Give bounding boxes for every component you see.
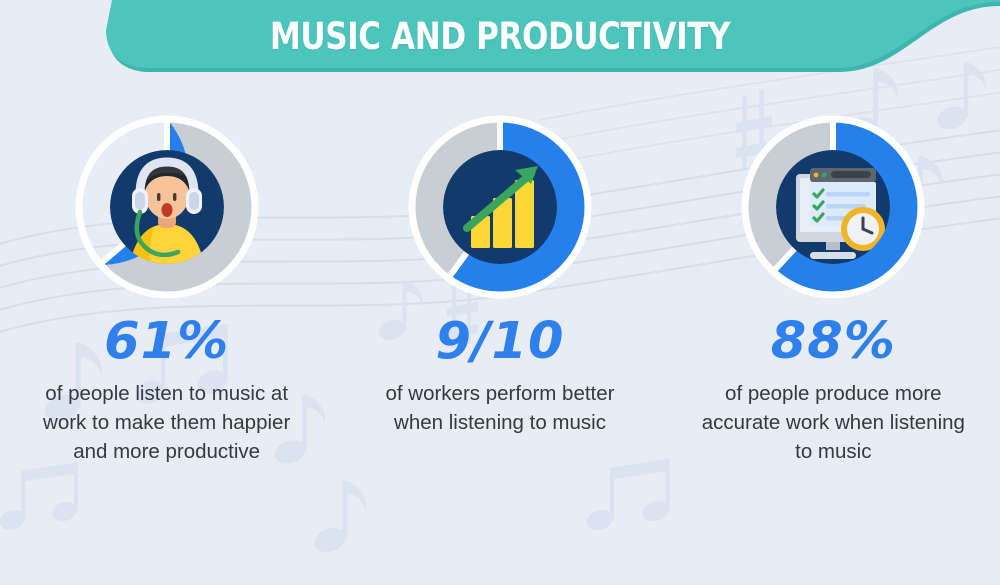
stat-value-2: 9/10 — [435, 316, 564, 367]
page-title: MUSIC AND PRODUCTIVITY — [80, 0, 920, 72]
donut-chart-3 — [738, 112, 928, 302]
stat-caption-2: of workers perform better when listening… — [375, 379, 625, 437]
stat-caption-1: of people listen to music at work to mak… — [36, 379, 298, 466]
stat-card-1: 61% of people listen to music at work to… — [0, 112, 333, 466]
stats-row: 61% of people listen to music at work to… — [0, 112, 1000, 466]
donut-chart-1 — [72, 112, 262, 302]
stat-value-3: 88% — [771, 316, 896, 367]
growth-bar-chart-icon — [443, 150, 557, 264]
donut-chart-2 — [405, 112, 595, 302]
stat-card-2: 9/10 of workers perform better when list… — [333, 112, 666, 466]
stat-card-3: 88% of people produce more accurate work… — [667, 112, 1000, 466]
stat-value-1: 61% — [104, 316, 229, 367]
monitor-checklist-clock-icon — [776, 150, 890, 264]
stat-caption-3: of people produce more accurate work whe… — [697, 379, 969, 466]
person-with-headphones-icon — [110, 150, 224, 264]
